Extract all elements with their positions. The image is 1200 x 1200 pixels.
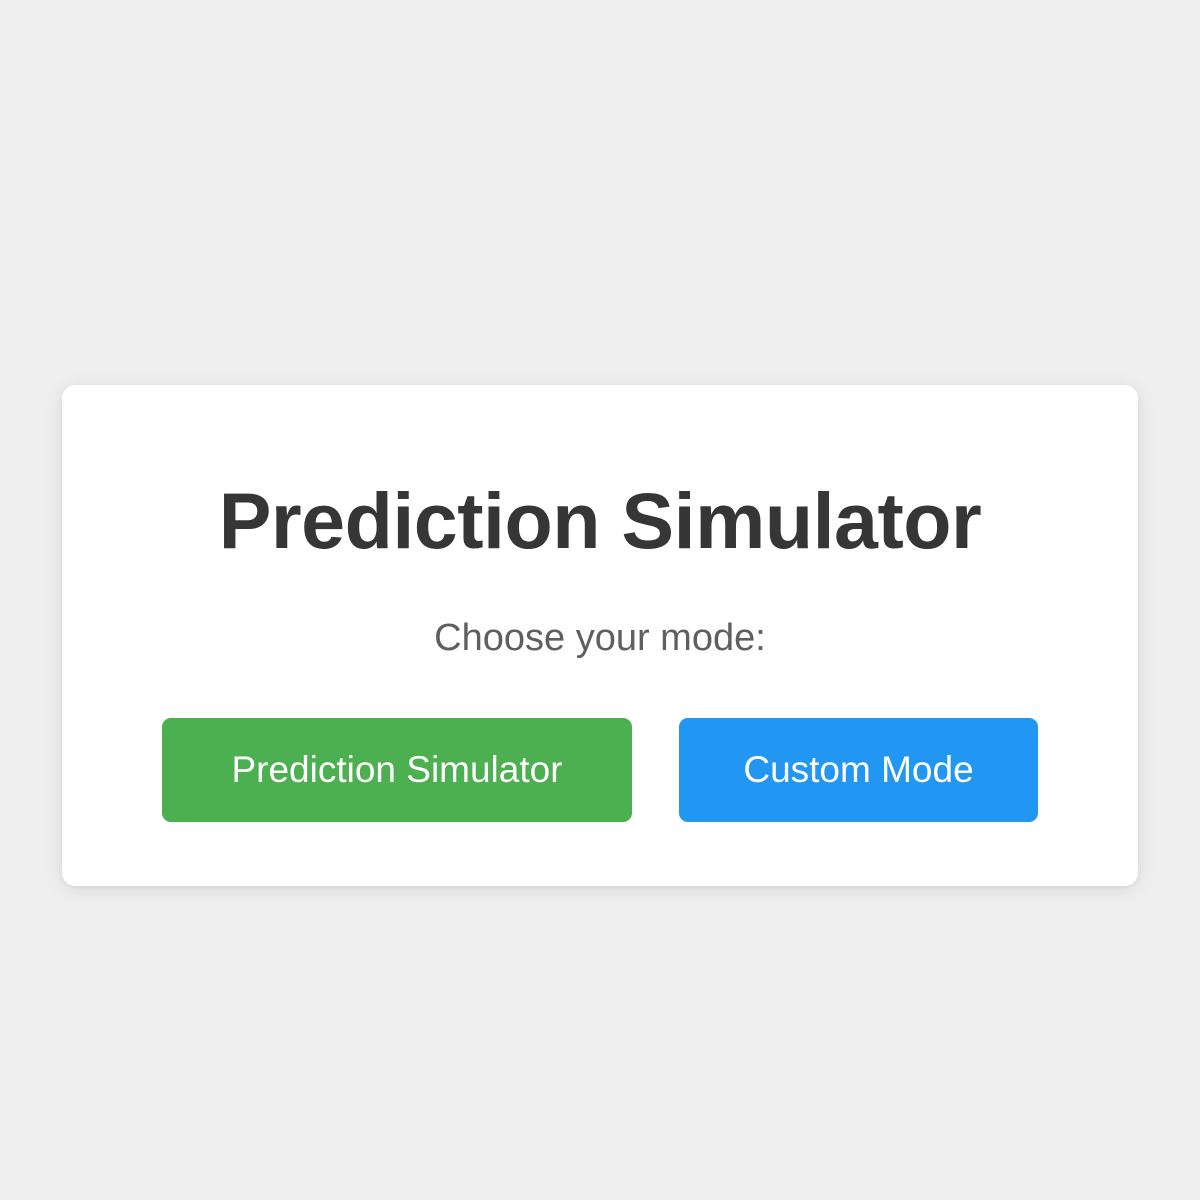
prediction-simulator-button[interactable]: Prediction Simulator: [162, 718, 632, 822]
mode-buttons-group: Prediction Simulator Custom Mode: [162, 718, 1038, 822]
app-root: Prediction Simulator Choose your mode: P…: [0, 0, 1200, 1200]
custom-mode-button[interactable]: Custom Mode: [679, 718, 1038, 822]
mode-selection-card: Prediction Simulator Choose your mode: P…: [62, 385, 1138, 886]
page-title: Prediction Simulator: [219, 481, 982, 560]
mode-prompt-label: Choose your mode:: [434, 619, 766, 657]
